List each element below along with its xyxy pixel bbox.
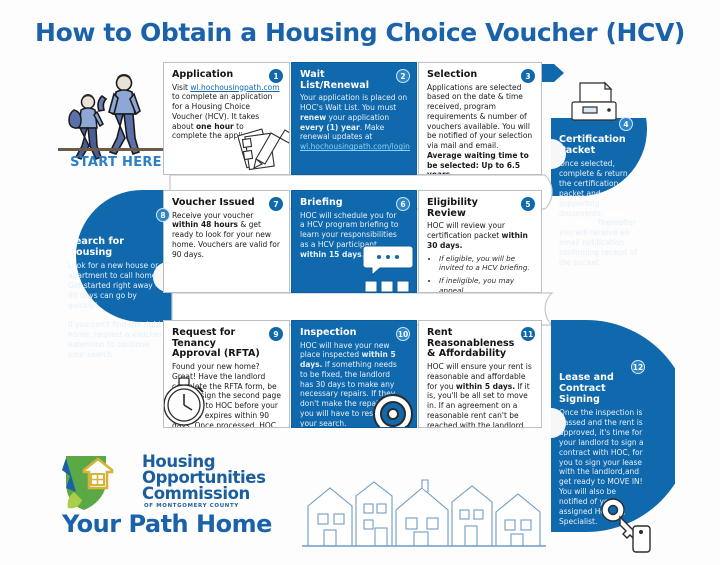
start-here-label: START HERE bbox=[58, 155, 174, 170]
step-body-7: Receive your voucher within 48 hours & g… bbox=[172, 211, 281, 260]
step-badge-1: 1 bbox=[269, 69, 283, 83]
step-heading-9: Request for Tenancy Approval (RFTA) bbox=[172, 328, 281, 360]
step-body-11: HOC will ensure your rent is reasonable … bbox=[427, 362, 533, 428]
step-badge-10: 10 bbox=[396, 327, 410, 341]
magnifier-icon bbox=[368, 391, 417, 428]
step-badge-5: 5 bbox=[521, 197, 535, 211]
step-badge-3: 3 bbox=[521, 69, 535, 83]
curve-panel-8[interactable]: 8 Search for Housing Look for a new hous… bbox=[68, 236, 172, 376]
step-box-5[interactable]: 5 Eligibility Review HOC will review you… bbox=[418, 190, 542, 293]
walking-people-icon bbox=[62, 72, 167, 167]
step-heading-6: Briefing bbox=[300, 198, 408, 209]
step-heading-12: Lease and Contract Signing bbox=[559, 372, 639, 405]
hoc-logo-wordmark: Housing Opportunities Commission bbox=[142, 454, 266, 502]
neighborhood-houses-illustration bbox=[300, 462, 550, 552]
tagline: Your Path Home bbox=[62, 510, 272, 538]
keys-icon bbox=[595, 496, 667, 556]
step-bullets-5: If eligible, you will be invited to a HC… bbox=[439, 254, 533, 293]
step-heading-1: Application bbox=[172, 70, 281, 81]
step-box-6[interactable]: 6 Briefing HOC will schedule you for a H… bbox=[291, 190, 417, 293]
step-heading-5: Eligibility Review bbox=[427, 198, 533, 219]
step-badge-4: 4 bbox=[619, 117, 633, 131]
step-badge-2: 2 bbox=[396, 69, 410, 83]
hoc-logo-mark-icon bbox=[60, 452, 140, 514]
step-badge-12: 12 bbox=[631, 360, 645, 374]
step-heading-8: Search for Housing bbox=[68, 236, 140, 258]
step-heading-10: Inspection bbox=[300, 328, 408, 339]
infographic-page: How to Obtain a Housing Choice Voucher (… bbox=[0, 0, 720, 565]
step-badge-6: 6 bbox=[396, 197, 410, 211]
step-box-10[interactable]: 10 Inspection HOC will have your new pla… bbox=[291, 320, 417, 428]
step-heading-4: Certification Packet bbox=[559, 134, 637, 156]
step-body-2: Your application is placed on HOC's Wait… bbox=[300, 93, 408, 152]
step-badge-9: 9 bbox=[269, 327, 283, 341]
step-body-3: Applications are selected based on the d… bbox=[427, 83, 533, 175]
hoc-logo-subtitle: OF MONTGOMERY COUNTY bbox=[144, 503, 239, 509]
application-forms-icon bbox=[238, 119, 290, 175]
list-item: If ineligible, you may appeal. bbox=[439, 276, 533, 293]
step-box-7[interactable]: 7 Voucher Issued Receive your voucher wi… bbox=[163, 190, 290, 293]
step-body-8: Look for a new house or apartment to cal… bbox=[68, 261, 164, 360]
hoc-logo-line-3: Commission bbox=[142, 486, 266, 502]
step-badge-8: 8 bbox=[156, 208, 170, 222]
step-heading-11: Rent Reasonableness & Affordability bbox=[427, 328, 533, 360]
curve-panel-4[interactable]: 4 Certification Packet Once selected, co… bbox=[559, 124, 655, 274]
step-box-3[interactable]: 3 Selection Applications are selected ba… bbox=[418, 62, 542, 175]
ground-line bbox=[58, 148, 170, 151]
speech-bubble-icon bbox=[358, 244, 416, 292]
stopwatch-icon bbox=[163, 369, 212, 428]
step-heading-3: Selection bbox=[427, 70, 533, 81]
step-badge-7: 7 bbox=[269, 197, 283, 211]
printer-icon bbox=[566, 80, 622, 126]
step-box-9[interactable]: 9 Request for Tenancy Approval (RFTA) Fo… bbox=[163, 320, 290, 428]
list-item: If eligible, you will be invited to a HC… bbox=[439, 254, 533, 273]
step-box-2[interactable]: 2 Wait List/Renewal Your application is … bbox=[291, 62, 417, 175]
step-box-11[interactable]: 11 Rent Reasonableness & Affordability H… bbox=[418, 320, 542, 428]
step-box-1[interactable]: 1 Application Visit wl.hochousingpath.co… bbox=[163, 62, 290, 175]
step-body-5: HOC will review your certification packe… bbox=[427, 221, 533, 250]
step-heading-2: Wait List/Renewal bbox=[300, 70, 408, 91]
step-badge-11: 11 bbox=[521, 327, 535, 341]
step-body-4: Once selected, complete & return the cer… bbox=[559, 159, 641, 268]
step-heading-7: Voucher Issued bbox=[172, 198, 281, 209]
